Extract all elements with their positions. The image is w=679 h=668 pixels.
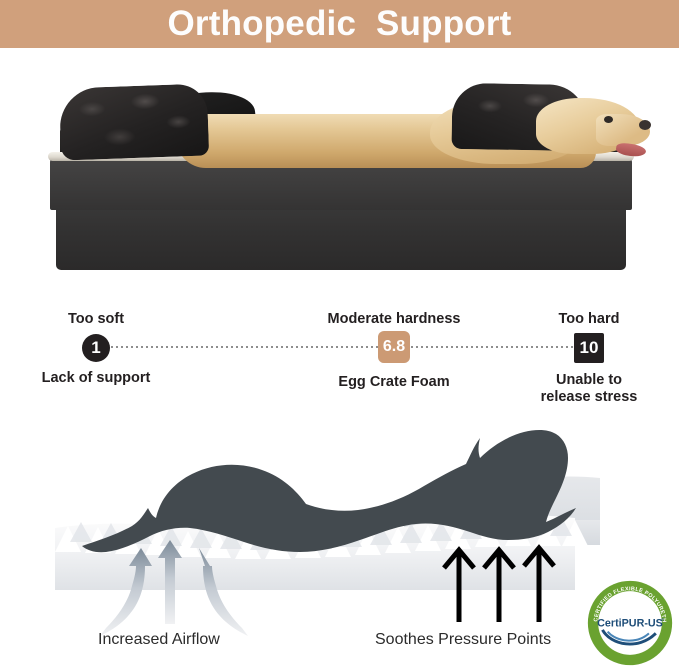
scale-stop-too-hard: Too hard 10 Unable to release stress — [514, 312, 664, 406]
scale-badge-wrap: 1 — [16, 334, 176, 362]
scale-stop-too-soft: Too soft 1 Lack of support — [16, 312, 176, 387]
dog-bed-base-lower — [56, 200, 626, 270]
golden-retriever-eye — [604, 116, 613, 123]
scale-stop-top-label: Too hard — [514, 312, 664, 327]
scale-badge-wrap: 6.8 — [314, 331, 474, 363]
hardness-scale: Too soft 1 Lack of support Moderate hard… — [0, 300, 679, 400]
header-banner: Orthopedic Support — [0, 0, 679, 48]
scale-stop-moderate-hardness: Moderate hardness 6.8 Egg Crate Foam — [314, 312, 474, 391]
scale-stop-bottom-label: Lack of support — [16, 370, 176, 387]
scale-stop-top-label: Moderate hardness — [314, 312, 474, 327]
page-title: Orthopedic Support — [167, 6, 511, 41]
caption-increased-airflow: Increased Airflow — [98, 632, 220, 648]
scale-badge-value-10: 10 — [574, 333, 604, 363]
scale-stop-bottom-label: Egg Crate Foam — [314, 374, 474, 391]
certipur-us-logo: CONTAINS CERTIFIED FLEXIBLE POLYURETHANE… — [587, 580, 673, 666]
foam-cutaway-diagram: Increased Airflow Soothes Pressure Point… — [0, 400, 679, 668]
golden-retriever-nose — [639, 120, 651, 130]
dog-bed-bolster-left — [59, 83, 209, 160]
scale-badge-value-6-8: 6.8 — [378, 331, 410, 363]
certipur-center-text: CertiPUR-US — [597, 617, 663, 629]
scale-badge-wrap: 10 — [514, 333, 664, 363]
scale-stop-top-label: Too soft — [16, 312, 176, 327]
orthopedic-support-infographic: Orthopedic Support Too soft 1 Lack of su… — [0, 0, 679, 668]
product-photo — [0, 48, 679, 296]
pressure-point-arrows — [444, 548, 554, 622]
foam-diagram-svg — [0, 400, 679, 668]
scale-badge-value-1: 1 — [82, 334, 110, 362]
caption-soothes-pressure-points: Soothes Pressure Points — [375, 632, 551, 648]
